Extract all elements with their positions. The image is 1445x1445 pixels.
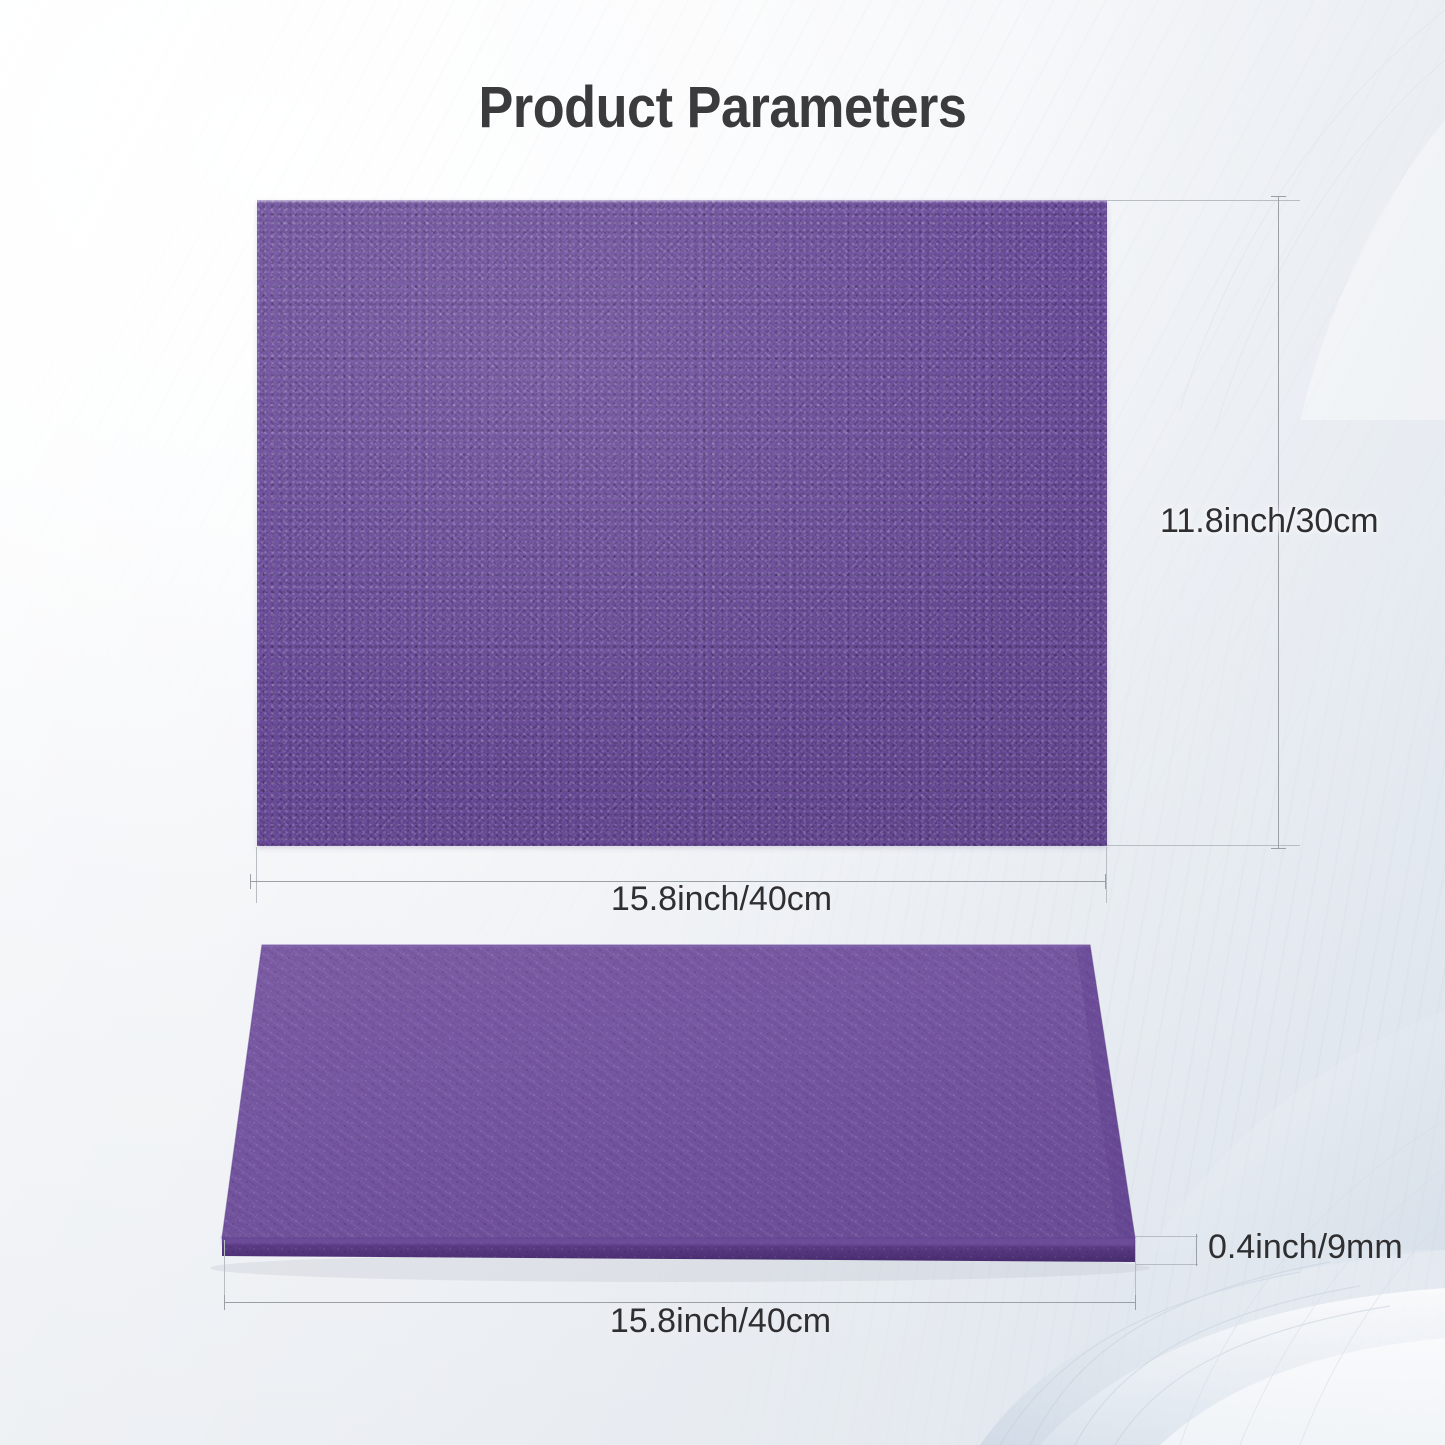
- product-parameters-infographic: Product Parameters 11.8inch/30cm 15.8inc…: [0, 0, 1445, 1445]
- dimension-tick-height-bottom: [1271, 848, 1286, 849]
- dimension-label-width-front: 15.8inch/40cm: [0, 880, 1444, 919]
- felt-shading-front: [257, 200, 1107, 846]
- panel-top-highlight: [257, 200, 1107, 203]
- dimension-label-thickness: 0.4inch/9mm: [1208, 1228, 1403, 1267]
- dimension-line-thickness: [1196, 1234, 1197, 1266]
- extension-line-thickness-top: [1136, 1236, 1198, 1237]
- extension-line-thickness-bottom: [1136, 1264, 1198, 1265]
- product-front-view: [257, 200, 1107, 846]
- dimension-tick-height-top: [1271, 196, 1286, 197]
- extension-line-top-right: [1107, 200, 1300, 201]
- page-title: Product Parameters: [72, 78, 1373, 139]
- extension-line-bottom-right: [1107, 845, 1300, 846]
- dimension-label-height: 11.8inch/30cm: [1160, 502, 1379, 541]
- dimension-label-width-perspective: 15.8inch/40cm: [0, 1302, 1443, 1341]
